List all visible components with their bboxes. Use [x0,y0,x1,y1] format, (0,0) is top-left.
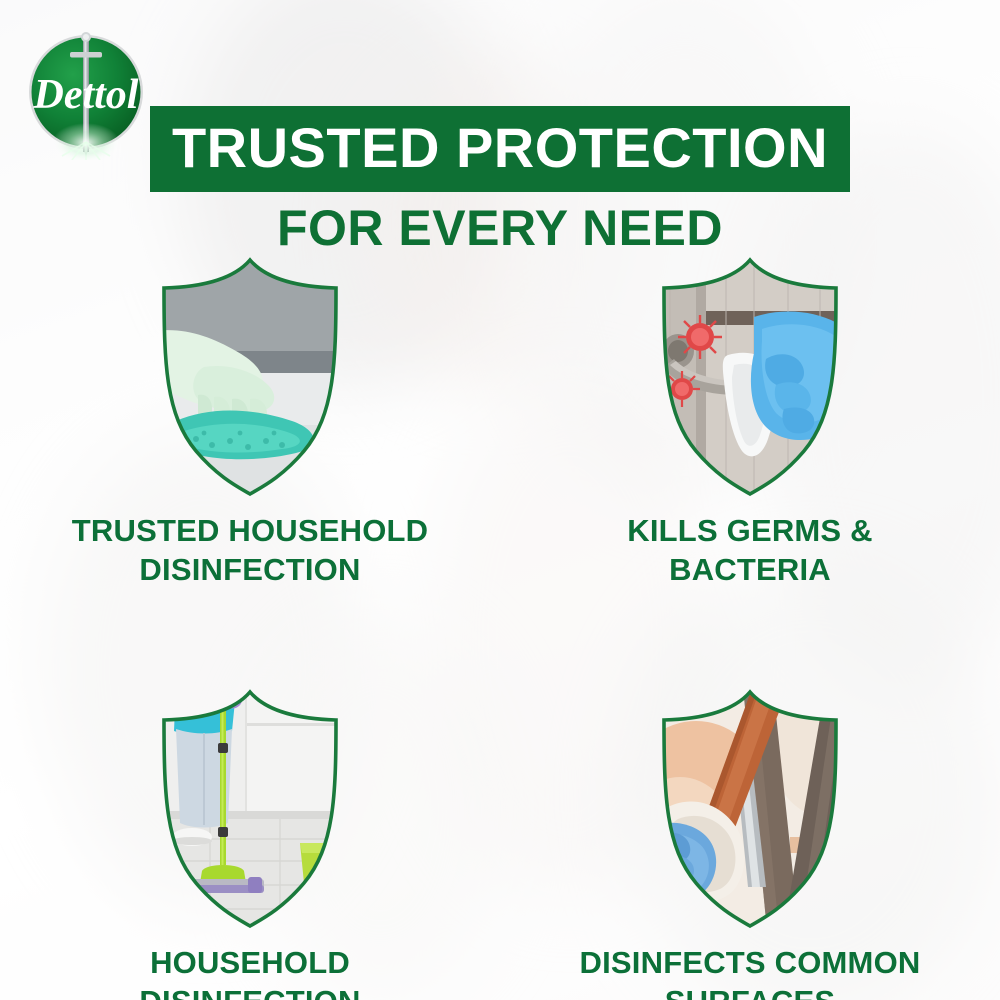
infographic-canvas: Dettol TRUSTED PROTECTION FOR EVERY NEED [0,0,1000,1000]
caption-line-2: DISINFECTION [139,552,360,587]
germ-particle [678,315,722,359]
shield-icon [150,687,350,930]
feature-row: HOUSEHOLD DISINFECTION [0,687,1000,1000]
shield-icon [150,255,350,498]
caption-line-1: TRUSTED HOUSEHOLD [72,513,428,548]
caption-line-2: BACTERIA [669,552,831,587]
shield-icon [650,687,850,930]
feature-caption: TRUSTED HOUSEHOLD DISINFECTION [20,511,480,590]
feature-row: TRUSTED HOUSEHOLD DISINFECTION [0,255,1000,590]
caption-line-1: DISINFECTS COMMON [580,945,921,980]
feature-card-trusted-household-disinfection: TRUSTED HOUSEHOLD DISINFECTION [0,255,500,590]
caption-line-2: DISINFECTION [139,984,360,1000]
feature-caption: KILLS GERMS & BACTERIA [520,511,980,590]
shield-photo-counter-wipe [150,255,350,498]
feature-card-household-disinfection: HOUSEHOLD DISINFECTION [0,687,500,1000]
caption-line-1: HOUSEHOLD [150,945,350,980]
headline-banner: TRUSTED PROTECTION [150,106,850,192]
shield-icon [650,255,850,498]
shield-photo-door-handle [650,255,850,498]
headline-subline: FOR EVERY NEED [0,202,1000,255]
headline: TRUSTED PROTECTION FOR EVERY NEED [0,106,1000,255]
feature-caption: DISINFECTS COMMON SURFACES [520,943,980,1000]
caption-line-2: SURFACES [665,984,835,1000]
shield-photo-mopping [150,687,350,930]
caption-line-1: KILLS GERMS & [627,513,872,548]
feature-card-kills-germs-and-bacteria: KILLS GERMS & BACTERIA [500,255,1000,590]
feature-card-disinfects-common-surfaces: DISINFECTS COMMON SURFACES [500,687,1000,1000]
feature-grid: TRUSTED HOUSEHOLD DISINFECTION [0,255,1000,1000]
feature-caption: HOUSEHOLD DISINFECTION [20,943,480,1000]
shield-photo-stair-railing [650,687,850,930]
